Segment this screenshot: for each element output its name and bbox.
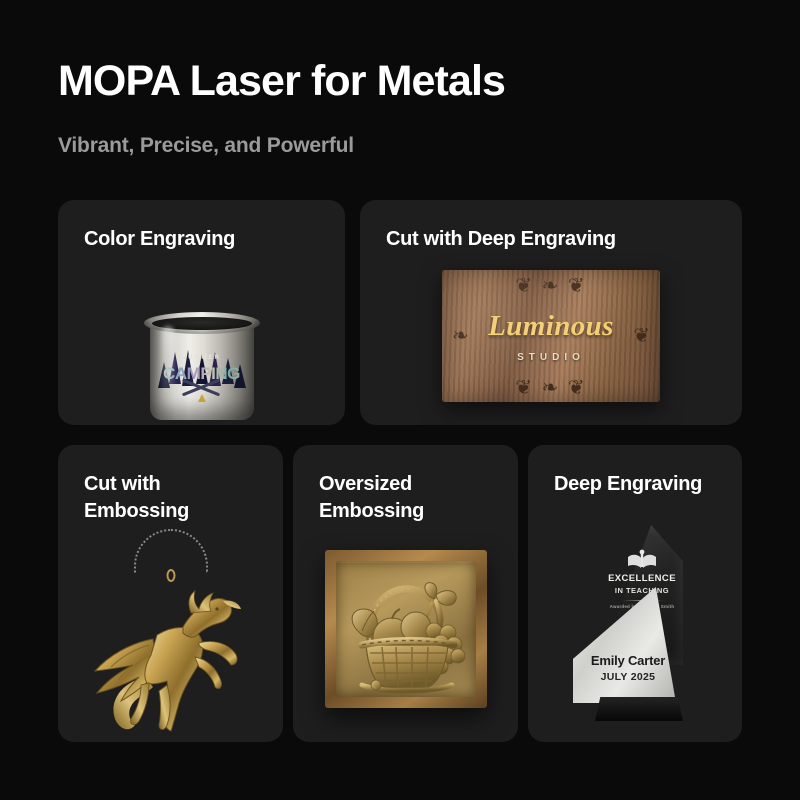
fruit-basket-relief-icon (336, 561, 476, 697)
mug-image: SUMMER CAMPING (58, 200, 345, 425)
embossed-relief-image (293, 445, 518, 742)
page-subtitle: Vibrant, Precise, and Powerful (58, 134, 354, 158)
award-recipient: Emily Carter (583, 653, 673, 668)
book-icon (627, 549, 657, 569)
card-cut-with-deep-engraving[interactable]: Cut with Deep Engraving ❦ ❧ ❦ ❦ ❧ ❦ ❧ ❦ … (360, 200, 742, 425)
pegasus-pendant-image (58, 445, 283, 742)
award-trophy-image: EXCELLENCE IN TEACHING Awarded by: Dr. J… (528, 445, 742, 742)
flame-icon (198, 394, 206, 402)
ornament-bottom-icon: ❦ ❧ ❦ (442, 378, 660, 398)
award-date: JULY 2025 (583, 671, 673, 683)
picture-frame (325, 550, 487, 708)
ornament-top-icon: ❦ ❧ ❦ (442, 276, 660, 296)
card-color-engraving[interactable]: Color Engraving SUMMER CAMPING (58, 200, 345, 425)
wood-plaque-image: ❦ ❧ ❦ ❦ ❧ ❦ ❧ ❦ Luminous STUDIO (360, 200, 742, 425)
award-subheading: IN TEACHING (605, 586, 679, 595)
award-base (595, 697, 683, 721)
plaque-brand-name: Luminous (442, 310, 660, 343)
plaque-subtitle: STUDIO (442, 352, 660, 363)
necklace-chain (134, 529, 208, 573)
ornament-right-icon: ❦ (633, 326, 650, 346)
ornament-left-icon: ❧ (452, 326, 469, 346)
page-title: MOPA Laser for Metals (58, 58, 505, 105)
award-heading: EXCELLENCE (605, 573, 679, 584)
pegasus-icon (87, 573, 255, 741)
card-deep-engraving[interactable]: Deep Engraving EXCELLENCE IN TEACHING Aw… (528, 445, 742, 742)
card-cut-with-embossing[interactable]: Cut with Embossing (58, 445, 283, 742)
card-oversized-embossing[interactable]: Oversized Embossing (293, 445, 518, 742)
promo-page: MOPA Laser for Metals Vibrant, Precise, … (0, 0, 800, 800)
